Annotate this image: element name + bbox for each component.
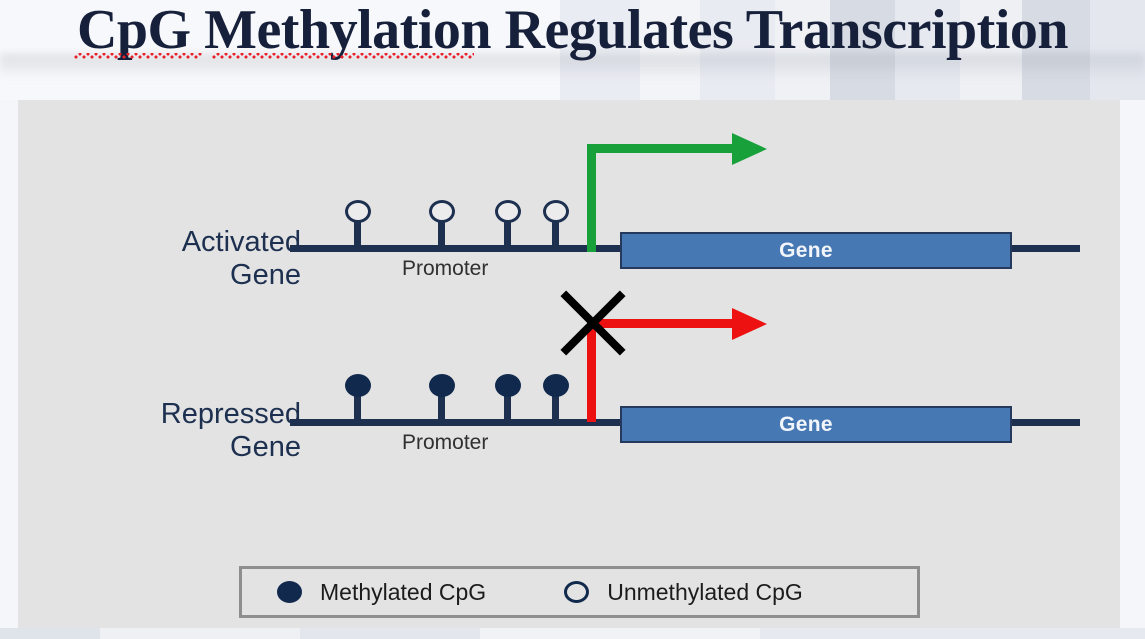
cpg-methylated-marker	[543, 374, 569, 397]
diagram-panel: Activated Gene Promoter Gene Repressed G…	[18, 100, 1120, 628]
cpg-stem	[504, 393, 511, 420]
spellcheck-underline-methylation	[212, 53, 474, 59]
cpg-unmethylated-marker	[543, 200, 569, 223]
repressed-promoter-label: Promoter	[402, 431, 488, 455]
activated-gene-label-line2: Gene	[103, 259, 301, 292]
spellcheck-underline-cpg	[74, 53, 202, 59]
transcription-arrow-shaft-blocked	[587, 319, 736, 328]
filled-circle-icon	[277, 581, 302, 603]
transcription-arrow-stem-active	[587, 144, 596, 252]
repressed-gene-box: Gene	[620, 406, 1012, 443]
slide: CpG Methylation Regulates Transcription …	[0, 0, 1145, 639]
cpg-methylated-marker	[429, 374, 455, 397]
legend-item-unmethylated: Unmethylated CpG	[564, 579, 803, 606]
repressed-gene-label: Repressed Gene	[93, 398, 301, 464]
open-circle-icon	[564, 581, 589, 603]
transcription-arrow-stem-blocked	[587, 319, 596, 422]
cpg-unmethylated-marker	[429, 200, 455, 223]
transcription-arrow-head-active	[732, 133, 767, 165]
repressed-gene-label-line2: Gene	[93, 431, 301, 464]
legend-item-methylated: Methylated CpG	[277, 579, 486, 606]
cpg-unmethylated-marker	[345, 200, 371, 223]
cpg-stem	[354, 393, 361, 420]
activated-gene-label-line1: Activated	[103, 226, 301, 259]
cpg-stem	[504, 219, 511, 246]
cpg-stem	[552, 219, 559, 246]
legend: Methylated CpG Unmethylated CpG	[239, 566, 920, 618]
slide-bottom-strip	[0, 628, 1145, 639]
cpg-methylated-marker	[345, 374, 371, 397]
repressed-gene-label-line1: Repressed	[93, 398, 301, 431]
legend-label-unmethylated: Unmethylated CpG	[607, 579, 803, 606]
activated-gene-box: Gene	[620, 232, 1012, 269]
repressed-gene-box-label: Gene	[779, 413, 833, 437]
activated-gene-box-label: Gene	[779, 239, 833, 263]
cpg-stem	[354, 219, 361, 246]
transcription-arrow-head-blocked	[732, 308, 767, 340]
cpg-stem	[438, 393, 445, 420]
cpg-stem	[552, 393, 559, 420]
activated-promoter-label: Promoter	[402, 257, 488, 281]
cpg-unmethylated-marker	[495, 200, 521, 223]
legend-label-methylated: Methylated CpG	[320, 579, 486, 606]
transcription-arrow-shaft-active	[587, 144, 736, 153]
cpg-stem	[438, 219, 445, 246]
cpg-methylated-marker	[495, 374, 521, 397]
activated-gene-label: Activated Gene	[103, 226, 301, 292]
